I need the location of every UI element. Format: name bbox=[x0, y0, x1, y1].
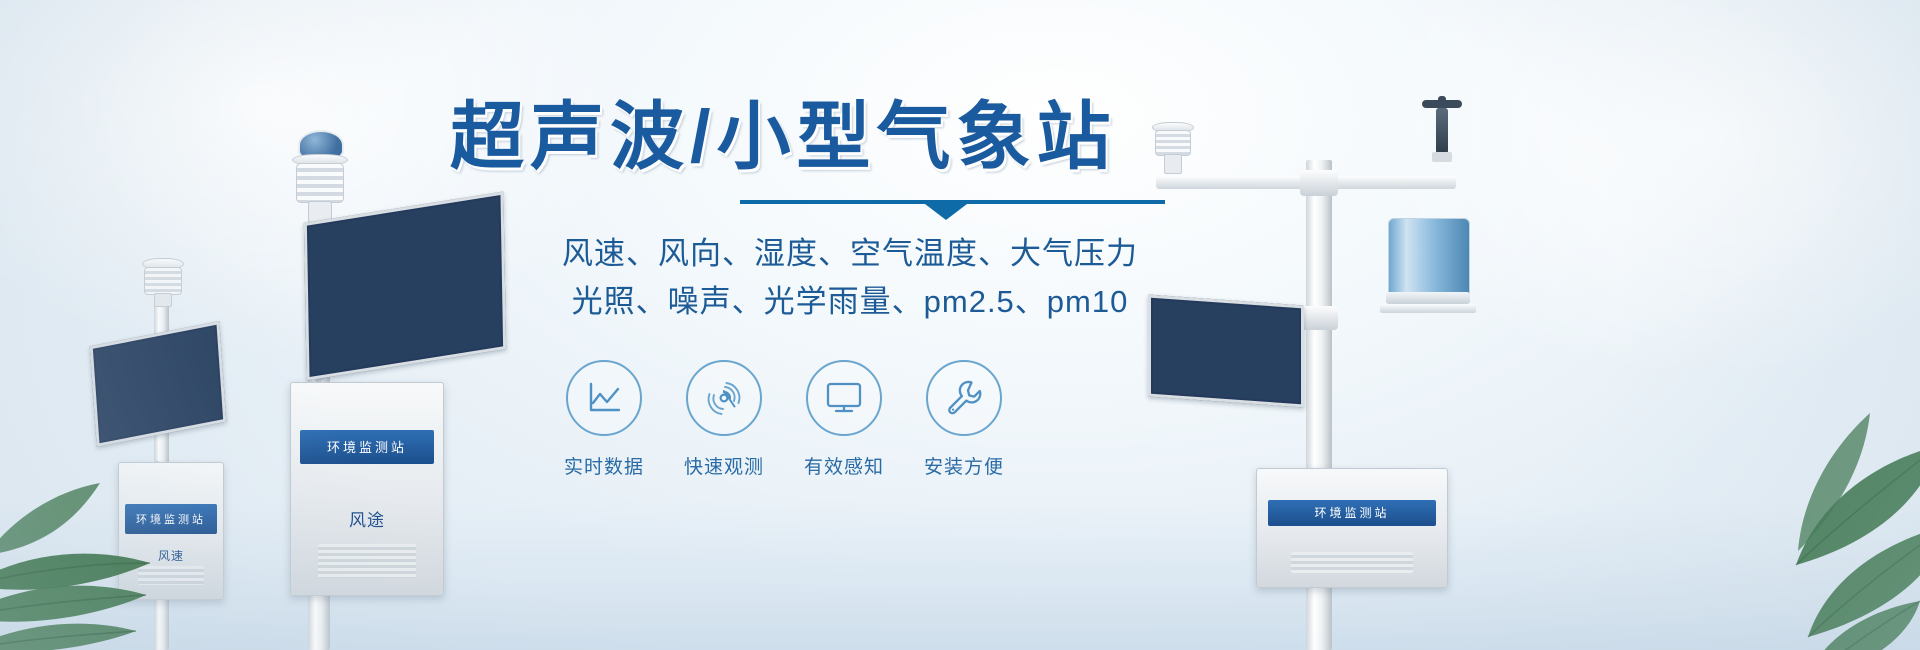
feature-label-effective-sensing: 有效感知 bbox=[784, 452, 904, 479]
leaf-decoration-left bbox=[0, 435, 260, 650]
title-slash: / bbox=[690, 95, 717, 178]
monitor-icon bbox=[806, 360, 882, 436]
feature-item-fast-observation[interactable]: 快速观测 bbox=[664, 360, 784, 479]
feature-label-fast-observation: 快速观测 bbox=[664, 452, 784, 479]
product-banner: 环境监测站 风速 环境监测站 风途 bbox=[0, 0, 1920, 650]
weather-station-right: 环境监测站 bbox=[1140, 70, 1500, 650]
feature-list: 实时数据 快速观测 bbox=[440, 360, 1140, 479]
enclosure-box-middle: 环境监测站 风途 bbox=[290, 382, 444, 596]
divider-triangle-icon bbox=[925, 204, 967, 220]
subtitle-line-1: 风速、风向、湿度、空气温度、大气压力 bbox=[560, 230, 1140, 278]
enclosure-box-right: 环境监测站 bbox=[1256, 468, 1448, 588]
ultrasonic-wind-sensor-icon bbox=[288, 130, 350, 226]
radar-scan-icon bbox=[686, 360, 762, 436]
line-chart-icon bbox=[566, 360, 642, 436]
subtitle-list: 风速、风向、湿度、空气温度、大气压力 光照、噪声、光学雨量、pm2.5、pm10 bbox=[440, 230, 1140, 326]
ultrasonic-sensor-right-boom-icon bbox=[1148, 122, 1196, 180]
feature-item-easy-installation[interactable]: 安装方便 bbox=[904, 360, 1024, 479]
feature-label-realtime-data: 实时数据 bbox=[544, 452, 664, 479]
title-part-right: 小型气象站 bbox=[717, 95, 1117, 178]
subtitle-line-2: 光照、噪声、光学雨量、pm2.5、pm10 bbox=[560, 278, 1140, 326]
station-label-right: 环境监测站 bbox=[1268, 500, 1435, 526]
title-part-left: 超声波 bbox=[450, 95, 690, 178]
leaf-decoration-right bbox=[1620, 405, 1920, 650]
feature-item-realtime-data[interactable]: 实时数据 bbox=[544, 360, 664, 479]
anemometer-icon bbox=[1420, 96, 1464, 180]
station-label-middle: 环境监测站 bbox=[300, 430, 434, 464]
solar-panel-left bbox=[90, 321, 227, 447]
rain-gauge-icon bbox=[1386, 218, 1470, 326]
solar-panel-right bbox=[1148, 295, 1304, 408]
feature-label-easy-installation: 安装方便 bbox=[904, 452, 1024, 479]
title-divider bbox=[740, 200, 1165, 204]
radiation-shield-sensor-icon bbox=[138, 258, 186, 306]
wrench-icon bbox=[926, 360, 1002, 436]
feature-item-effective-sensing[interactable]: 有效感知 bbox=[784, 360, 904, 479]
page-title: 超声波/小型气象站 bbox=[450, 100, 1140, 174]
banner-content: 超声波/小型气象站 风速、风向、湿度、空气温度、大气压力 光照、噪声、光学雨量、… bbox=[440, 100, 1140, 479]
brand-label-middle: 风途 bbox=[291, 506, 443, 531]
